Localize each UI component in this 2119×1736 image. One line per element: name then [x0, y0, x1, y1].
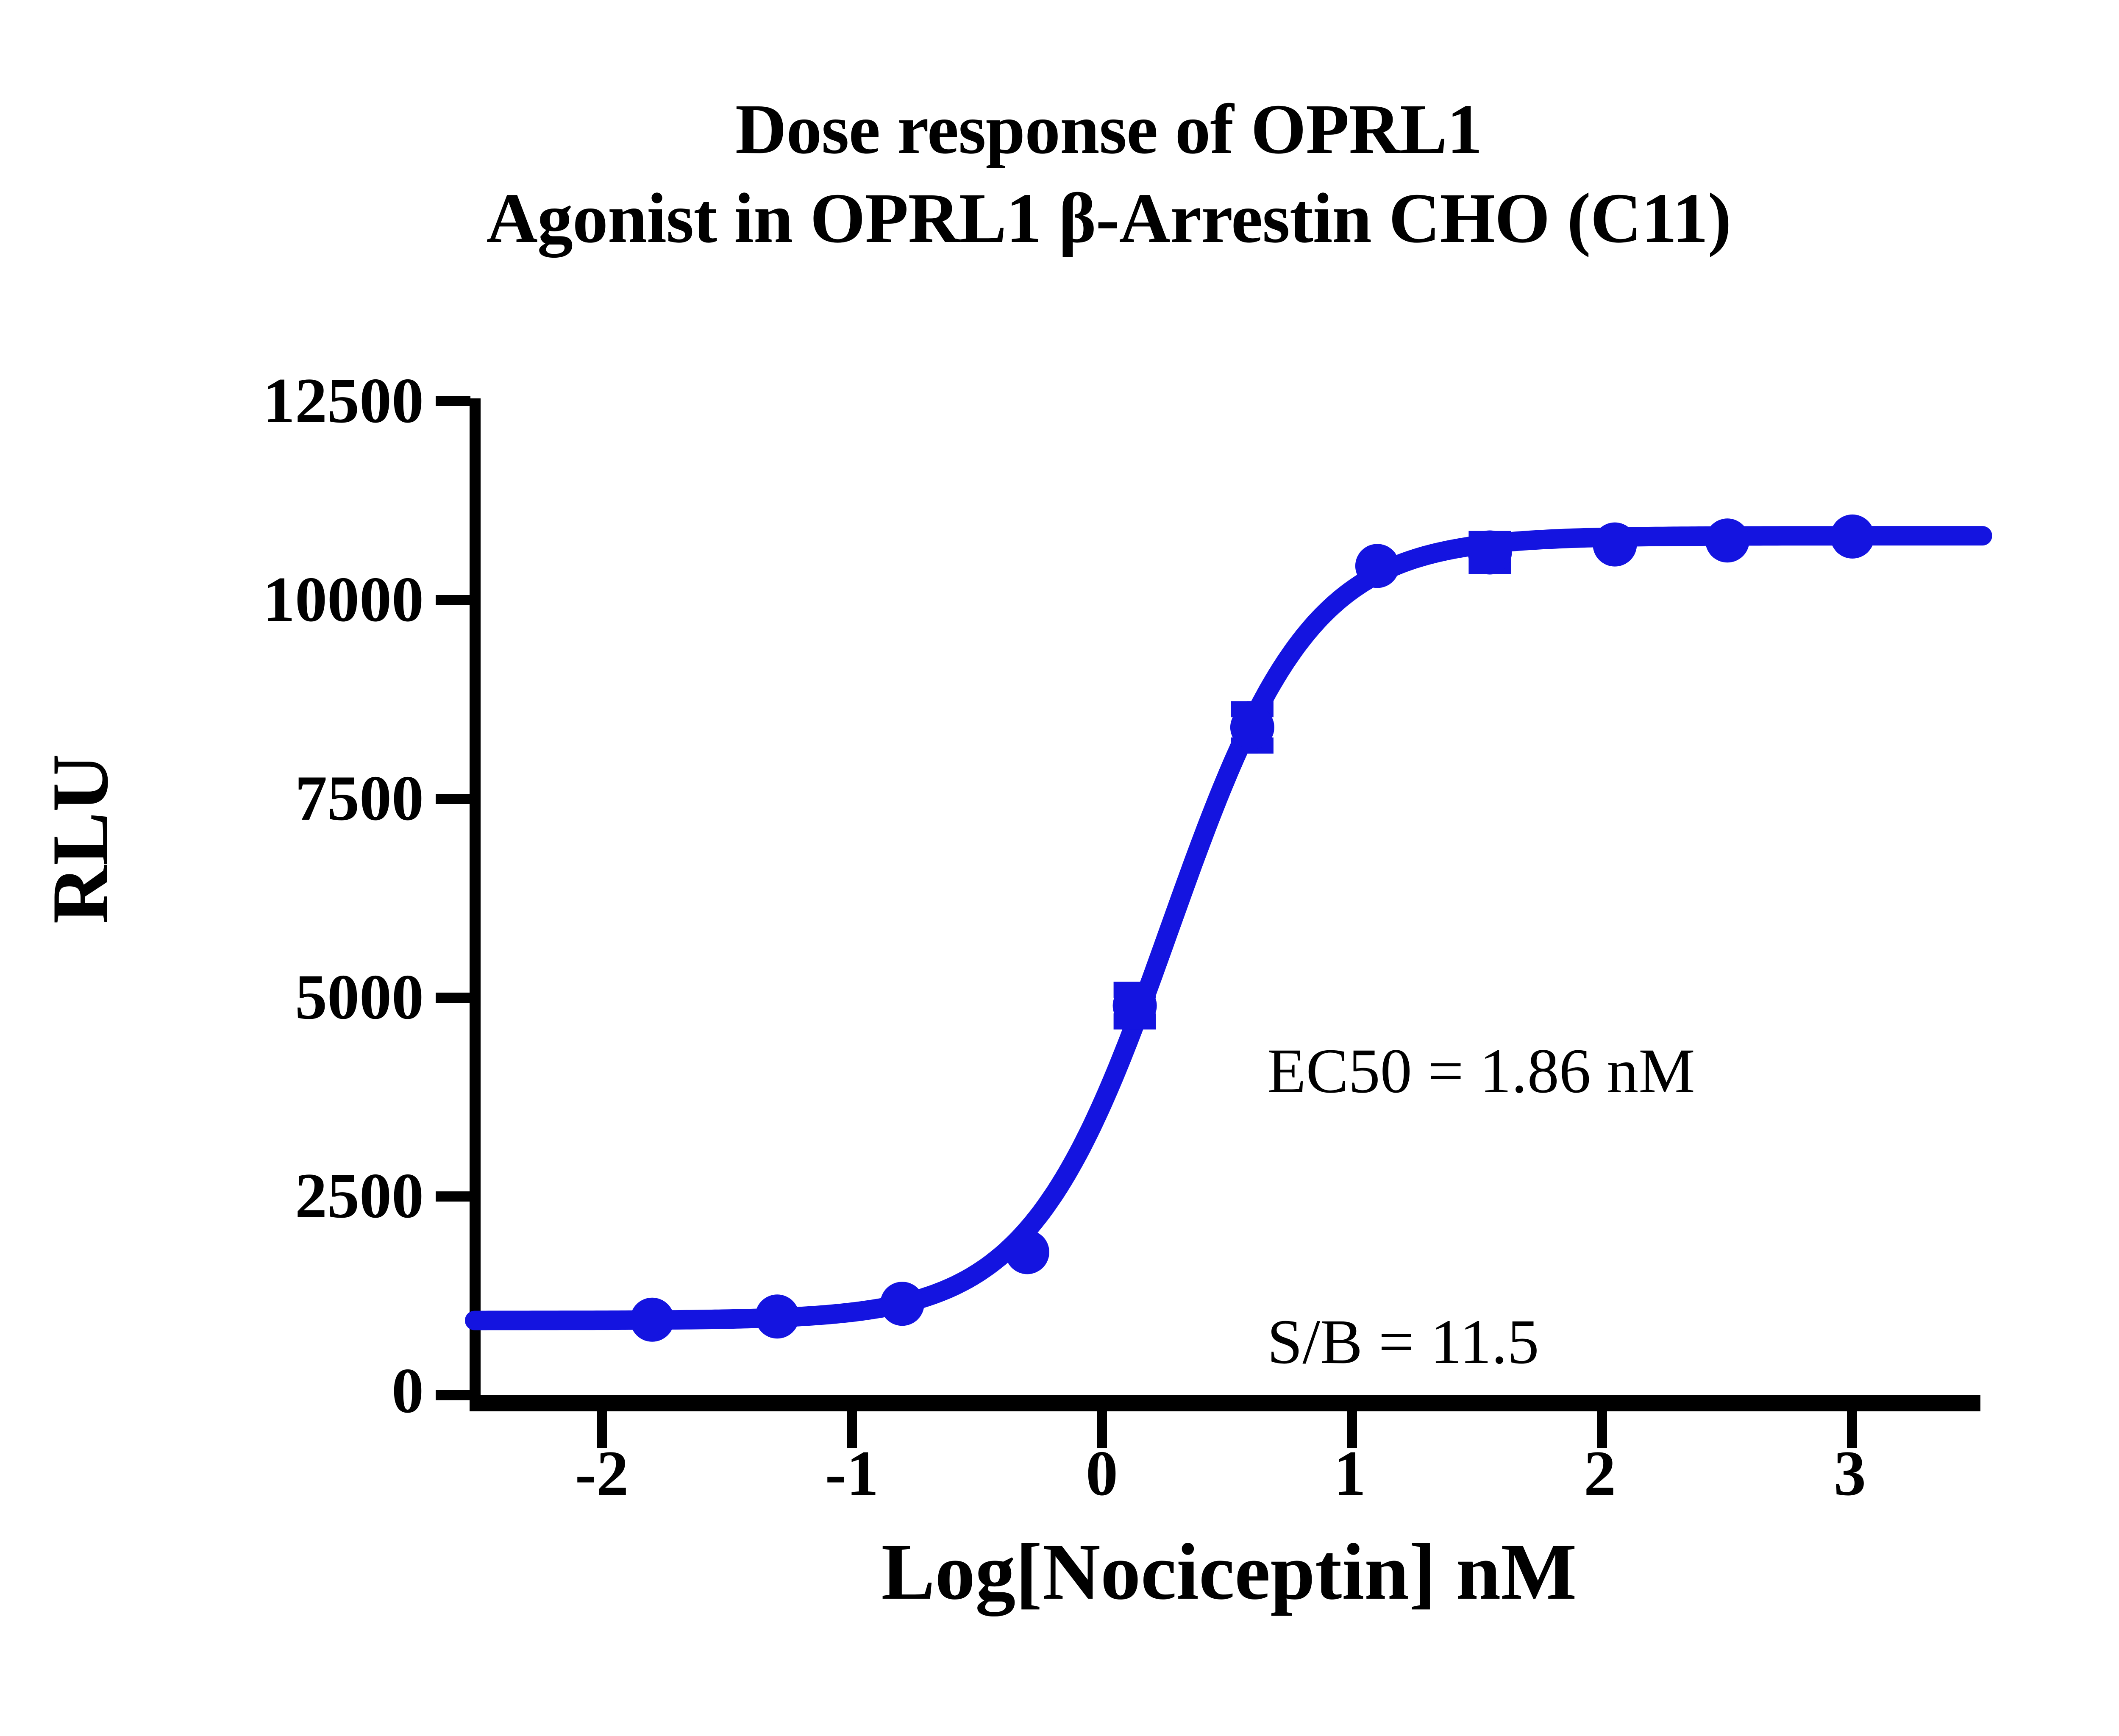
x-tick-mark-2	[1597, 1411, 1607, 1448]
data-point-markers-group	[630, 515, 1874, 1342]
chart-figure: Dose response of OPRL1 Agonist in OPRL1 …	[0, 0, 2119, 1736]
y-tick-mark-5000	[436, 993, 470, 1003]
y-axis-ticks	[436, 396, 470, 1400]
data-point-marker	[1355, 544, 1399, 588]
y-tick-mark-7500	[436, 794, 470, 804]
axis-lines	[470, 398, 1980, 1411]
data-point-marker	[1113, 984, 1157, 1028]
data-point-marker	[1230, 705, 1274, 749]
y-tick-mark-12500	[436, 396, 470, 406]
y-tick-mark-2500	[436, 1191, 470, 1202]
x-tick-mark-3	[1847, 1411, 1857, 1448]
x-tick-mark-0	[1097, 1411, 1107, 1448]
data-point-marker	[1468, 530, 1512, 574]
data-point-marker	[880, 1282, 924, 1326]
data-point-marker	[1705, 518, 1749, 562]
y-tick-mark-0	[436, 1390, 470, 1400]
data-point-marker	[630, 1298, 674, 1342]
x-tick-mark-1	[1347, 1411, 1357, 1448]
fit-curve-group	[475, 536, 1983, 1321]
x-axis-spine	[470, 1395, 1980, 1411]
data-point-marker	[1830, 515, 1874, 559]
data-point-marker	[755, 1294, 799, 1338]
x-axis-ticks	[597, 1411, 1857, 1448]
data-point-marker	[1593, 523, 1637, 567]
error-bars-group	[1114, 531, 1511, 1029]
plot-area	[0, 0, 2119, 1736]
x-tick-mark--1	[847, 1411, 857, 1448]
y-tick-mark-10000	[436, 595, 470, 605]
y-axis-spine	[470, 398, 481, 1411]
data-point-marker	[1005, 1230, 1049, 1274]
x-tick-mark--2	[597, 1411, 607, 1448]
dose-response-curve	[475, 536, 1983, 1321]
